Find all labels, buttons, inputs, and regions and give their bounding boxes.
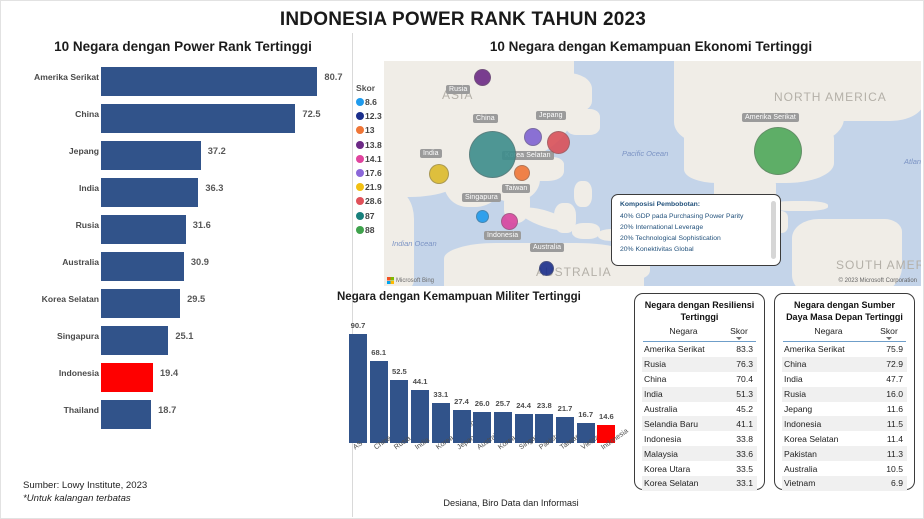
map-pin-label: Jepang xyxy=(536,111,566,120)
cell-negara: Selandia Baru xyxy=(644,419,721,429)
map-ocean-atlantic: Atlantic Ocean xyxy=(904,157,921,166)
cell-negara: Pakistan xyxy=(784,449,871,459)
page-title: INDONESIA POWER RANK TAHUN 2023 xyxy=(1,9,924,31)
table-row[interactable]: Indonesia11.5 xyxy=(782,416,907,431)
map-ocean-indian: Indian Ocean xyxy=(392,239,432,248)
bar-value-label: 19.4 xyxy=(160,368,178,378)
legend-color-dot-icon xyxy=(356,197,364,205)
legend-color-dot-icon xyxy=(356,183,364,191)
cell-skor: 33.5 xyxy=(721,464,755,474)
bar-row: Indonesia19.4 xyxy=(9,359,347,396)
bar-track xyxy=(101,67,347,96)
legend-item-label: 12.3 xyxy=(365,111,382,121)
bar-track xyxy=(101,400,347,429)
table-row[interactable]: Jepang11.6 xyxy=(782,402,907,417)
cell-skor: 72.9 xyxy=(871,359,905,369)
bar[interactable] xyxy=(101,104,295,133)
legend-item-label: 17.6 xyxy=(365,168,382,178)
map-pin-label: China xyxy=(473,114,498,123)
map-continent-north-america: NORTH AMERICA xyxy=(774,89,844,105)
cell-skor: 51.3 xyxy=(721,389,755,399)
cell-skor: 76.3 xyxy=(721,359,755,369)
table-row[interactable]: China72.9 xyxy=(782,357,907,372)
bar-track xyxy=(101,363,347,392)
table-row[interactable]: India47.7 xyxy=(782,372,907,387)
bar-value-label: 14.6 xyxy=(591,412,621,421)
cell-negara: China xyxy=(784,359,871,369)
power-rank-bar-chart: Amerika Serikat80.7China72.5Jepang37.2In… xyxy=(9,63,347,463)
cell-skor: 6.9 xyxy=(871,478,905,488)
bar-category-label: Korea Selatan xyxy=(0,294,99,304)
bar-row: Australia30.9 xyxy=(9,248,347,285)
column-header-skor[interactable]: Skor xyxy=(873,326,905,336)
cell-negara: Jepang xyxy=(784,404,871,414)
bar[interactable] xyxy=(101,400,151,429)
map-ocean-pacific: Pacific Ocean xyxy=(622,149,668,158)
weighting-line: 40% GDP pada Purchasing Power Parity xyxy=(620,211,772,222)
cell-negara: Australia xyxy=(644,404,721,414)
cell-skor: 45.2 xyxy=(721,404,755,414)
credit-label: Desiana, Biro Data dan Informasi xyxy=(443,498,578,508)
sort-descending-icon xyxy=(736,337,742,340)
table-row[interactable]: China70.4 xyxy=(642,372,757,387)
bar-value-label: 30.9 xyxy=(191,257,209,267)
bar-category-label: Singapura xyxy=(0,331,99,341)
table-row[interactable]: Australia10.5 xyxy=(782,461,907,476)
map-pin-label: Amerika Serikat xyxy=(742,113,799,122)
cell-skor: 11.4 xyxy=(871,434,905,444)
bar-value-label: 25.1 xyxy=(175,331,193,341)
credit-footer: Desiana, Biro Data dan Informasi xyxy=(1,498,921,508)
legend-item-label: 13 xyxy=(365,125,375,135)
map-pin-label: Australia xyxy=(530,243,564,252)
military-plot-area: 90.7AS68.1China52.5Rusia44.1India33.1Kor… xyxy=(349,320,621,443)
bar-track xyxy=(101,289,347,318)
legend-item-label: 13.8 xyxy=(365,140,382,150)
table-row[interactable]: Vietnam6.9 xyxy=(782,476,907,491)
dashboard-page: INDONESIA POWER RANK TAHUN 2023 10 Negar… xyxy=(0,0,924,519)
bar-value-label: 31.6 xyxy=(193,220,211,230)
weighting-title: Komposisi Pembobotan: xyxy=(620,201,772,208)
bar-row: Amerika Serikat80.7 xyxy=(9,63,347,100)
bar-row: Singapura25.1 xyxy=(9,322,347,359)
map-bubble[interactable] xyxy=(476,210,489,223)
bar-category-label: Jepang xyxy=(0,146,99,156)
cell-negara: India xyxy=(644,389,721,399)
legend-color-dot-icon xyxy=(356,98,364,106)
legend-item-label: 28.6 xyxy=(365,196,382,206)
bar-value-label: 80.7 xyxy=(324,72,342,82)
bar[interactable] xyxy=(101,141,201,170)
bar-category-label: China xyxy=(0,109,99,119)
bar-row: Rusia31.6 xyxy=(9,211,347,248)
cell-skor: 33.1 xyxy=(721,478,755,488)
sort-descending-icon xyxy=(886,337,892,340)
bar-category-label: Amerika Serikat xyxy=(0,72,99,82)
legend-color-dot-icon xyxy=(356,112,364,120)
bar[interactable] xyxy=(101,252,184,281)
cell-negara: Korea Selatan xyxy=(784,434,871,444)
bar[interactable] xyxy=(101,363,153,392)
cell-skor: 83.3 xyxy=(721,344,755,354)
cell-skor: 47.7 xyxy=(871,374,905,384)
table-row[interactable]: Korea Selatan33.1 xyxy=(642,476,757,491)
legend-color-dot-icon xyxy=(356,169,364,177)
future-resources-table: Negara dengan Sumber Daya Masa Depan Ter… xyxy=(774,293,915,490)
cell-skor: 41.1 xyxy=(721,419,755,429)
power-rank-chart-title: 10 Negara dengan Power Rank Tertinggi xyxy=(23,39,343,54)
bar-row: India36.3 xyxy=(9,174,347,211)
cell-skor: 11.5 xyxy=(871,419,905,429)
map-bubble[interactable] xyxy=(524,128,542,146)
table-row[interactable]: India51.3 xyxy=(642,387,757,402)
table-row[interactable]: Selandia Baru41.1 xyxy=(642,416,757,431)
map-pin-label: Singapura xyxy=(462,193,501,202)
cell-negara: China xyxy=(644,374,721,384)
cell-negara: India xyxy=(784,374,871,384)
map-continent-south-america: SOUTH AMERICA xyxy=(836,257,904,273)
bar-value-label: 52.5 xyxy=(384,367,414,376)
bar-value-label: 37.2 xyxy=(208,146,226,156)
legend-item-label: 87 xyxy=(365,211,375,221)
map-bubble[interactable] xyxy=(429,164,449,184)
cell-skor: 70.4 xyxy=(721,374,755,384)
cell-negara: Amerika Serikat xyxy=(644,344,721,354)
bar-value-label: 68.1 xyxy=(364,348,394,357)
bar-category-label: Rusia xyxy=(0,220,99,230)
cell-negara: Vietnam xyxy=(784,478,871,488)
map-bubble[interactable] xyxy=(501,213,518,230)
table-row[interactable]: Malaysia33.6 xyxy=(642,446,757,461)
legend-item-label: 8.6 xyxy=(365,97,377,107)
map-copyright: © 2023 Microsoft Corporation xyxy=(839,278,917,284)
bar-value-label: 29.5 xyxy=(187,294,205,304)
map-bubble[interactable] xyxy=(754,127,802,175)
map-bubble[interactable] xyxy=(469,131,516,178)
bar-track xyxy=(101,215,347,244)
bar-value-label: 90.7 xyxy=(343,321,373,330)
table-row[interactable]: Pakistan11.3 xyxy=(782,446,907,461)
map-bubble[interactable] xyxy=(539,261,554,276)
table-title: Negara dengan Resiliensi Tertinggi xyxy=(642,300,757,323)
bing-attribution: Microsoft Bing xyxy=(387,277,434,284)
bar-row: China72.5 xyxy=(9,100,347,137)
bar[interactable] xyxy=(101,289,180,318)
bar-value-label: 72.5 xyxy=(302,109,320,119)
legend-color-dot-icon xyxy=(356,226,364,234)
bar-row: Thailand18.7 xyxy=(9,396,347,433)
map-bubble[interactable] xyxy=(474,69,491,86)
cell-negara: Korea Selatan xyxy=(644,478,721,488)
bar-category-label: Indonesia xyxy=(0,368,99,378)
bar-category-label: India xyxy=(0,183,99,193)
bar[interactable] xyxy=(101,67,317,96)
column-header-negara[interactable]: Negara xyxy=(644,326,723,336)
bar-value-label: 44.1 xyxy=(405,377,435,386)
bar[interactable] xyxy=(101,215,186,244)
cell-skor: 11.3 xyxy=(871,449,905,459)
cell-negara: Amerika Serikat xyxy=(784,344,871,354)
bar-value-label: 36.3 xyxy=(205,183,223,193)
column-header-negara[interactable]: Negara xyxy=(784,326,873,336)
map-pin-label: India xyxy=(420,149,442,158)
legend-item-label: 88 xyxy=(365,225,375,235)
cell-skor: 16.0 xyxy=(871,389,905,399)
cell-negara: Korea Utara xyxy=(644,464,721,474)
cell-negara: Malaysia xyxy=(644,449,721,459)
table-title: Negara dengan Sumber Daya Masa Depan Ter… xyxy=(782,300,907,323)
legend-color-dot-icon xyxy=(356,141,364,149)
table-row[interactable]: Rusia16.0 xyxy=(782,387,907,402)
cell-skor: 33.8 xyxy=(721,434,755,444)
cell-negara: Indonesia xyxy=(784,419,871,429)
bar-track xyxy=(101,252,347,281)
military-bar-chart: 90.7AS68.1China52.5Rusia44.1India33.1Kor… xyxy=(337,306,627,491)
table-row[interactable]: Indonesia33.8 xyxy=(642,431,757,446)
table-row[interactable]: Australia45.2 xyxy=(642,402,757,417)
cell-skor: 75.9 xyxy=(871,344,905,354)
table-header-row: NegaraSkor xyxy=(782,326,907,337)
legend-color-dot-icon xyxy=(356,212,364,220)
table-row[interactable]: Rusia76.3 xyxy=(642,357,757,372)
cell-negara: Rusia xyxy=(784,389,871,399)
bar[interactable] xyxy=(101,326,168,355)
weighting-line: 20% Konektivitas Global xyxy=(620,244,772,255)
table-row[interactable]: Korea Selatan11.4 xyxy=(782,431,907,446)
map-pin-label: Taiwan xyxy=(502,184,530,193)
legend-color-dot-icon xyxy=(356,155,364,163)
map-bubble[interactable] xyxy=(514,165,530,181)
table-row[interactable]: Korea Utara33.5 xyxy=(642,461,757,476)
weighting-composition-box: Komposisi Pembobotan: 40% GDP pada Purch… xyxy=(611,194,781,266)
table-header-row: NegaraSkor xyxy=(642,326,757,337)
weighting-line: 20% Technological Sophistication xyxy=(620,233,772,244)
bar-row: Jepang37.2 xyxy=(9,137,347,174)
economy-map-title: 10 Negara dengan Kemampuan Ekonomi Terti… xyxy=(381,39,921,54)
table-row[interactable]: Amerika Serikat83.3 xyxy=(642,342,757,357)
cell-skor: 10.5 xyxy=(871,464,905,474)
cell-negara: Rusia xyxy=(644,359,721,369)
bar-track xyxy=(101,326,347,355)
bar-row: Korea Selatan29.5 xyxy=(9,285,347,322)
map-pin-label: Indonesia xyxy=(484,231,521,240)
table-row[interactable]: Amerika Serikat75.9 xyxy=(782,342,907,357)
cell-negara: Australia xyxy=(784,464,871,474)
map-pin-label: Rusia xyxy=(446,85,470,94)
bar-track xyxy=(101,178,347,207)
source-line-1: Sumber: Lowy Institute, 2023 xyxy=(23,479,147,492)
bar[interactable] xyxy=(101,178,198,207)
bing-attribution-label: Microsoft Bing xyxy=(396,278,434,284)
bar-category-label: Australia xyxy=(0,257,99,267)
weighting-box-scrollbar[interactable] xyxy=(771,201,776,259)
legend-item-label: 21.9 xyxy=(365,182,382,192)
resilience-table: Negara dengan Resiliensi TertinggiNegara… xyxy=(634,293,765,490)
cell-skor: 11.6 xyxy=(871,404,905,414)
microsoft-logo-icon xyxy=(387,277,394,284)
legend-item-label: 14.1 xyxy=(365,154,382,164)
bar-value-label: 18.7 xyxy=(158,405,176,415)
cell-negara: Indonesia xyxy=(644,434,721,444)
bar-category-label: Thailand xyxy=(0,405,99,415)
map-bubble[interactable] xyxy=(547,131,570,154)
column-header-skor[interactable]: Skor xyxy=(723,326,755,336)
cell-skor: 33.6 xyxy=(721,449,755,459)
weighting-line: 20% International Leverage xyxy=(620,222,772,233)
military-chart-title: Negara dengan Kemampuan Militer Tertingg… xyxy=(337,291,581,303)
legend-color-dot-icon xyxy=(356,126,364,134)
